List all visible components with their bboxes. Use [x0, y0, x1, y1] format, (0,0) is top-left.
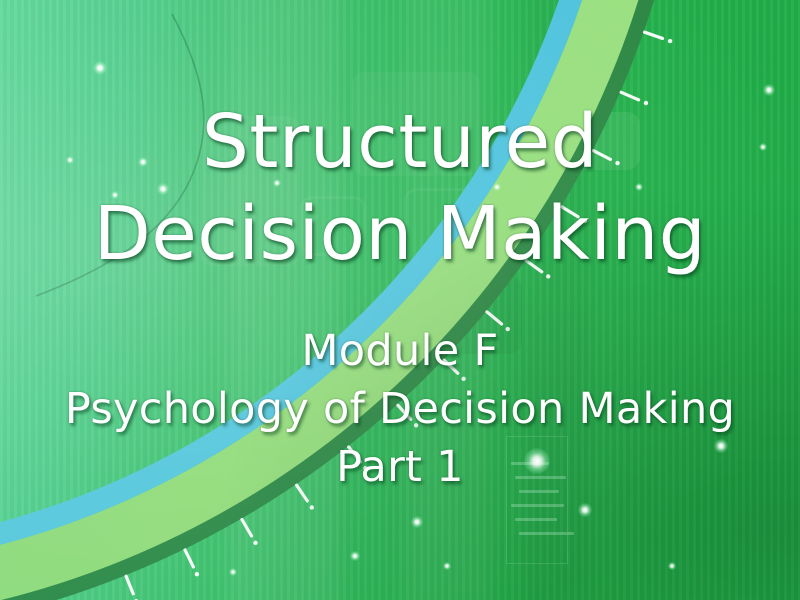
- slide-subtitle: Module F Psychology of Decision Making P…: [65, 322, 735, 496]
- slide-title: Structured Decision Making: [94, 96, 707, 280]
- presentation-slide: Structured Decision Making Module F Psyc…: [0, 0, 800, 600]
- slide-text-block: Structured Decision Making Module F Psyc…: [0, 0, 800, 600]
